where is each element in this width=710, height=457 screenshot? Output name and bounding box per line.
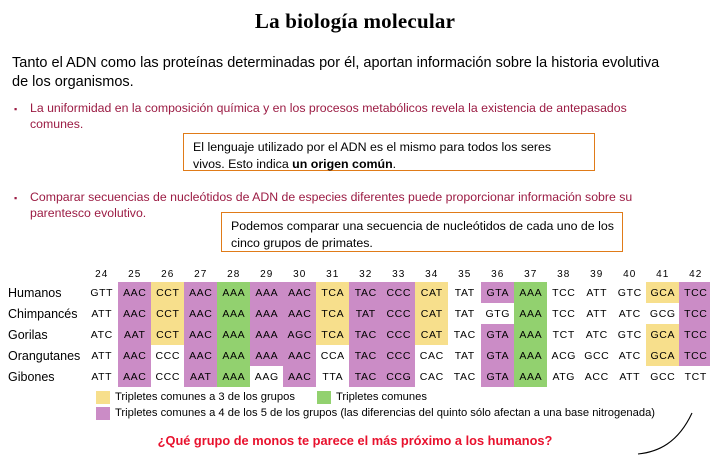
column-header-34: 34: [415, 267, 448, 282]
sequence-cell: AAC: [118, 303, 151, 324]
sequence-cell: TCA: [316, 282, 349, 303]
table-row: ChimpancésATTAACCCTAACAAAAAAAACTCATATCCC…: [6, 303, 710, 324]
column-header-29: 29: [250, 267, 283, 282]
sequence-cell: TCC: [547, 282, 580, 303]
sequence-cell: TCC: [679, 303, 710, 324]
table-row: HumanosGTTAACCCTAACAAAAAAAACTCATACCCCCAT…: [6, 282, 710, 303]
sequence-cell: AAA: [217, 324, 250, 345]
sequence-cell: AAC: [184, 324, 217, 345]
sequence-cell: TAT: [448, 303, 481, 324]
row-label-4: Gibones: [6, 366, 85, 387]
column-header-36: 36: [481, 267, 514, 282]
callout-box-origin: El lenguaje utilizado por el ADN es el m…: [183, 133, 595, 171]
bullet-marker-icon: ▪: [14, 102, 17, 118]
sequence-cell: ATT: [85, 345, 118, 366]
sequence-cell: CAT: [415, 303, 448, 324]
sequence-cell: GCC: [580, 345, 613, 366]
row-label-1: Chimpancés: [6, 303, 85, 324]
sequence-cell: AAA: [217, 345, 250, 366]
table-row: GibonesATTAACCCCAATAAAAAGAACTTATACCCGCAC…: [6, 366, 710, 387]
sequence-cell: GCA: [646, 282, 679, 303]
table-header: 2425262728293031323334353637383940414243…: [6, 267, 710, 282]
row-label-0: Humanos: [6, 282, 85, 303]
sequence-cell: TAC: [349, 345, 382, 366]
sequence-cell: CCC: [382, 345, 415, 366]
legend-swatch-yellow-icon: [96, 391, 110, 404]
sequence-cell: GTA: [481, 282, 514, 303]
sequence-cell: TCA: [316, 303, 349, 324]
sequence-cell: ATC: [613, 303, 646, 324]
sequence-cell: TCC: [679, 324, 710, 345]
sequence-cell: AAA: [514, 345, 547, 366]
sequence-cell: AAC: [184, 282, 217, 303]
sequence-cell: CAT: [415, 324, 448, 345]
column-header-41: 41: [646, 267, 679, 282]
row-label-3: Orangutanes: [6, 345, 85, 366]
sequence-cell: GTC: [613, 324, 646, 345]
sequence-cell: TAC: [349, 366, 382, 387]
table-header-row: 2425262728293031323334353637383940414243…: [6, 267, 710, 282]
row-label-2: Gorilas: [6, 324, 85, 345]
sequence-cell: CCT: [151, 324, 184, 345]
sequence-cell: GCA: [646, 345, 679, 366]
sequence-cell: AAA: [514, 366, 547, 387]
intro-paragraph: Tanto el ADN como las proteínas determin…: [12, 54, 672, 92]
sequence-cell: TCC: [679, 282, 710, 303]
legend: Tripletes comunes a 3 de los grupos Trip…: [96, 389, 655, 421]
sequence-cell: AAC: [283, 303, 316, 324]
sequence-cell: TAC: [448, 324, 481, 345]
column-header-30: 30: [283, 267, 316, 282]
sequence-cell: AAA: [514, 282, 547, 303]
column-header-25: 25: [118, 267, 151, 282]
column-header-27: 27: [184, 267, 217, 282]
sequence-cell: CCC: [151, 366, 184, 387]
table-row: OrangutanesATTAACCCCAACAAAAAAAACCCATACCC…: [6, 345, 710, 366]
sequence-cell: TCC: [679, 345, 710, 366]
sequence-cell: ATT: [580, 303, 613, 324]
bullet-item-1: ▪ La uniformidad en la composición quími…: [14, 101, 644, 132]
table-body: HumanosGTTAACCCTAACAAAAAAAACTCATACCCCCAT…: [6, 282, 710, 387]
legend-line-2: Tripletes comunes a 4 de los 5 de los gr…: [96, 405, 655, 421]
sequence-cell: CAC: [415, 366, 448, 387]
sequence-cell: TTA: [316, 366, 349, 387]
sequence-cell: ATT: [613, 366, 646, 387]
sequence-cell: TAC: [349, 282, 382, 303]
sequence-cell: TAC: [349, 324, 382, 345]
sequence-cell: AAT: [118, 324, 151, 345]
sequence-cell: GTT: [85, 282, 118, 303]
sequence-cell: GCC: [646, 366, 679, 387]
sequence-cell: AAA: [217, 366, 250, 387]
page-title: La biología molecular: [0, 9, 710, 34]
column-header-39: 39: [580, 267, 613, 282]
sequence-cell: AGC: [283, 324, 316, 345]
sequence-cell: AAA: [250, 282, 283, 303]
sequence-cell: ATC: [580, 324, 613, 345]
sequence-cell: TCT: [679, 366, 710, 387]
sequence-cell: CCT: [151, 303, 184, 324]
sequence-cell: TCT: [547, 324, 580, 345]
sequence-cell: GCA: [646, 324, 679, 345]
sequence-cell: ATT: [580, 282, 613, 303]
sequence-cell: AAC: [118, 345, 151, 366]
sequence-cell: CCC: [151, 345, 184, 366]
sequence-cell: CCG: [382, 366, 415, 387]
sequence-cell: CCT: [151, 282, 184, 303]
legend-label-green: Tripletes comunes: [336, 390, 427, 405]
sequence-cell: GTC: [613, 282, 646, 303]
legend-line-1: Tripletes comunes a 3 de los grupos Trip…: [96, 389, 655, 405]
sequence-cell: AAA: [250, 345, 283, 366]
column-header-37: 37: [514, 267, 547, 282]
sequence-cell: ATT: [85, 303, 118, 324]
sequence-cell: GTA: [481, 324, 514, 345]
sequence-cell: AAC: [283, 366, 316, 387]
sequence-cell: CCA: [316, 345, 349, 366]
legend-label-yellow: Tripletes comunes a 3 de los grupos: [115, 390, 295, 405]
sequence-cell: TAT: [448, 345, 481, 366]
callout-1-text-bold: un origen común: [292, 157, 393, 171]
sequence-cell: AAT: [184, 366, 217, 387]
table-row: GorilasATCAATCCTAACAAAAAAAGCTCATACCCCCAT…: [6, 324, 710, 345]
column-header-32: 32: [349, 267, 382, 282]
nucleotide-sequence-table: 2425262728293031323334353637383940414243…: [6, 267, 710, 387]
legend-label-purple: Tripletes comunes a 4 de los 5 de los gr…: [115, 406, 655, 421]
sequence-cell: AAC: [283, 282, 316, 303]
sequence-cell: AAA: [250, 303, 283, 324]
column-header-42: 42: [679, 267, 710, 282]
sequence-cell: CCC: [382, 303, 415, 324]
sequence-cell: AAG: [250, 366, 283, 387]
callout-box-primates: Podemos comparar una secuencia de nucleó…: [221, 212, 623, 252]
column-header-24: 24: [85, 267, 118, 282]
legend-swatch-green-icon: [317, 391, 331, 404]
sequence-cell: AAC: [118, 366, 151, 387]
sequence-cell: AAC: [118, 282, 151, 303]
sequence-cell: AAC: [283, 345, 316, 366]
sequence-cell: CAC: [415, 345, 448, 366]
column-header-26: 26: [151, 267, 184, 282]
sequence-cell: TCA: [316, 324, 349, 345]
column-header-38: 38: [547, 267, 580, 282]
row-label-header: [6, 267, 85, 282]
column-header-31: 31: [316, 267, 349, 282]
closing-question: ¿Qué grupo de monos te parece el más pró…: [0, 433, 710, 448]
sequence-cell: TAT: [349, 303, 382, 324]
sequence-cell: ATT: [85, 366, 118, 387]
sequence-cell: AAA: [250, 324, 283, 345]
sequence-cell: TCC: [547, 303, 580, 324]
sequence-cell: ACG: [547, 345, 580, 366]
sequence-cell: CCC: [382, 324, 415, 345]
column-header-28: 28: [217, 267, 250, 282]
sequence-cell: ATC: [85, 324, 118, 345]
sequence-cell: GTG: [481, 303, 514, 324]
sequence-cell: AAC: [184, 303, 217, 324]
legend-swatch-purple-icon: [96, 407, 110, 420]
sequence-cell: AAA: [217, 282, 250, 303]
sequence-cell: TAC: [448, 366, 481, 387]
sequence-cell: ATC: [613, 345, 646, 366]
callout-2-text-before: Podemos comparar una secuencia de nucleó…: [231, 219, 614, 250]
sequence-cell: AAC: [184, 345, 217, 366]
sequence-cell: AAA: [514, 303, 547, 324]
sequence-cell: ACC: [580, 366, 613, 387]
sequence-cell: GTA: [481, 366, 514, 387]
bullet-item-1-text: La uniformidad en la composición química…: [30, 101, 644, 132]
sequence-cell: AAA: [514, 324, 547, 345]
sequence-cell: TAT: [448, 282, 481, 303]
bullet-marker-icon: ▪: [14, 191, 17, 207]
sequence-cell: GCG: [646, 303, 679, 324]
sequence-cell: CCC: [382, 282, 415, 303]
sequence-cell: GTA: [481, 345, 514, 366]
callout-1-text-after: .: [393, 157, 396, 171]
column-header-35: 35: [448, 267, 481, 282]
sequence-cell: ATG: [547, 366, 580, 387]
column-header-40: 40: [613, 267, 646, 282]
sequence-cell: CAT: [415, 282, 448, 303]
column-header-33: 33: [382, 267, 415, 282]
sequence-cell: AAA: [217, 303, 250, 324]
